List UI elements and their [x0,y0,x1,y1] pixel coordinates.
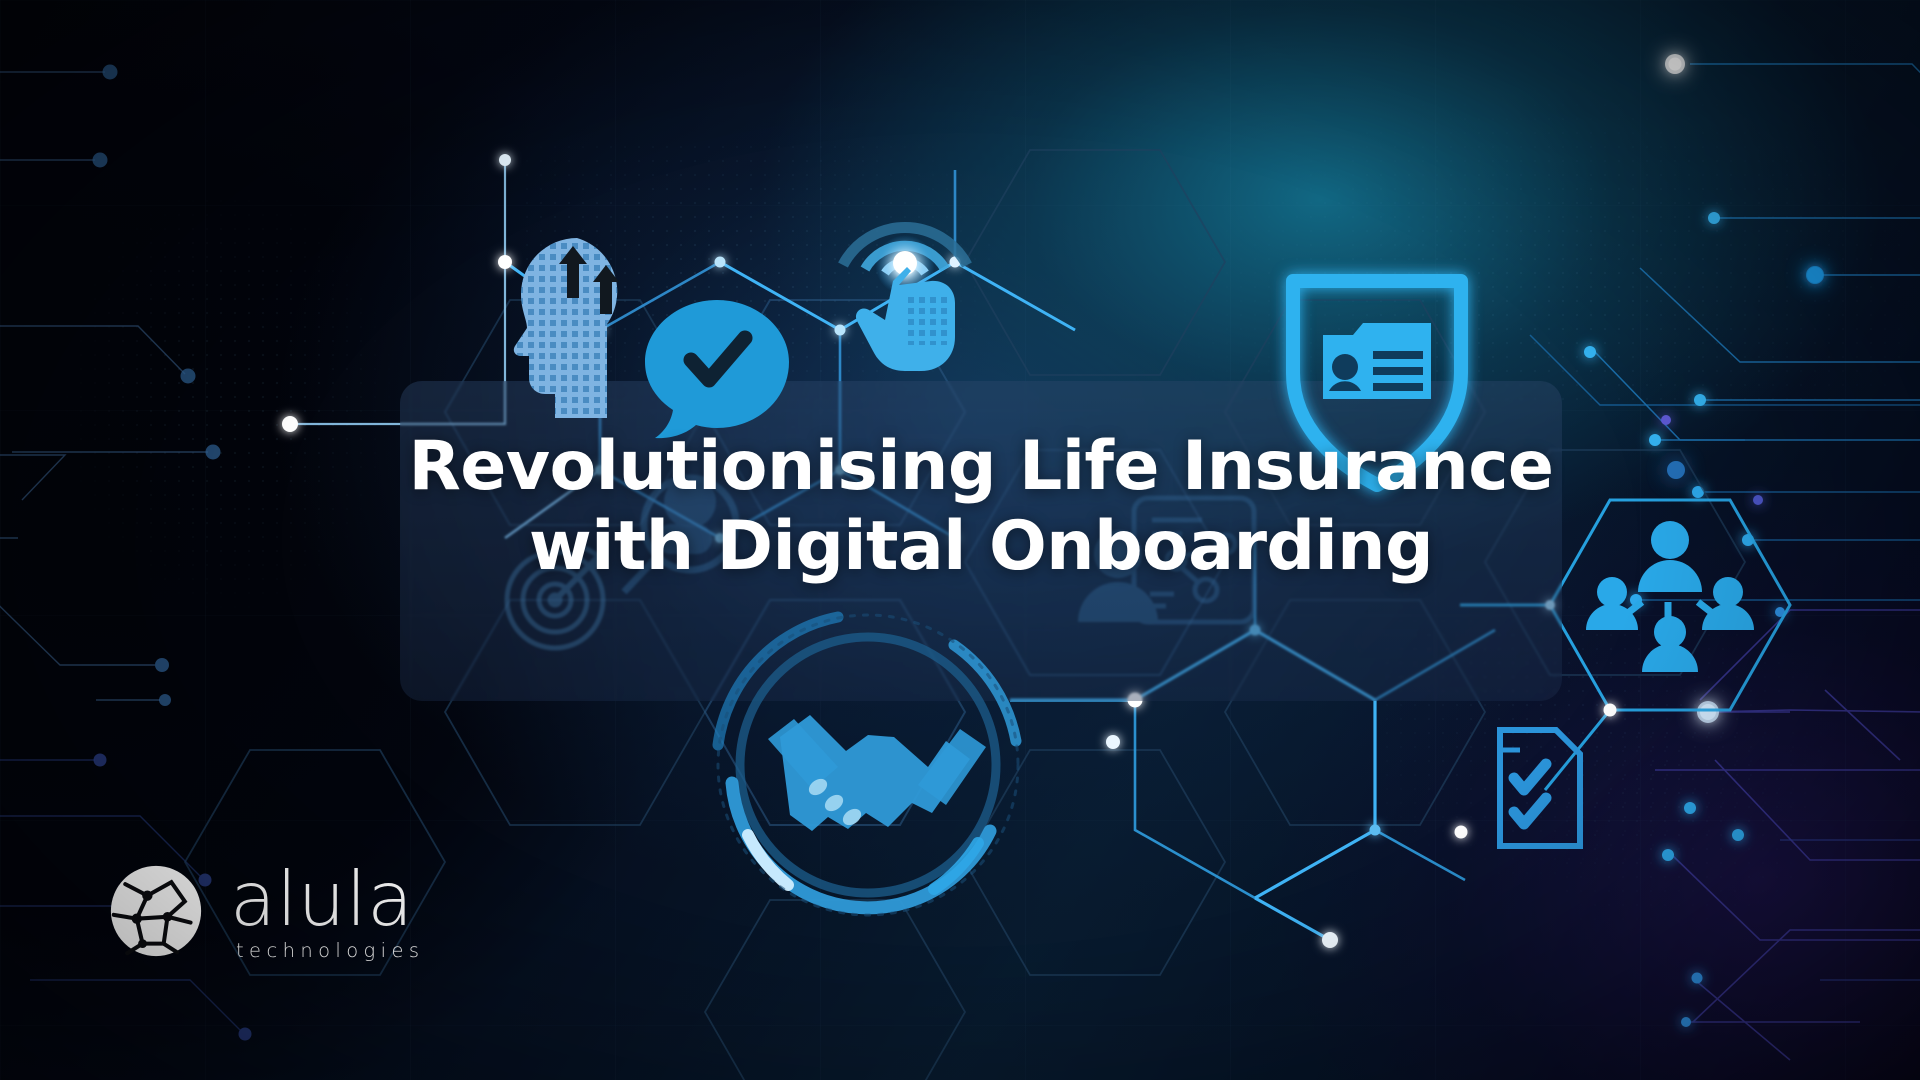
vignette-overlay [0,0,1920,1080]
banner-stage: Revolutionising Life Insurance with Digi… [0,0,1920,1080]
